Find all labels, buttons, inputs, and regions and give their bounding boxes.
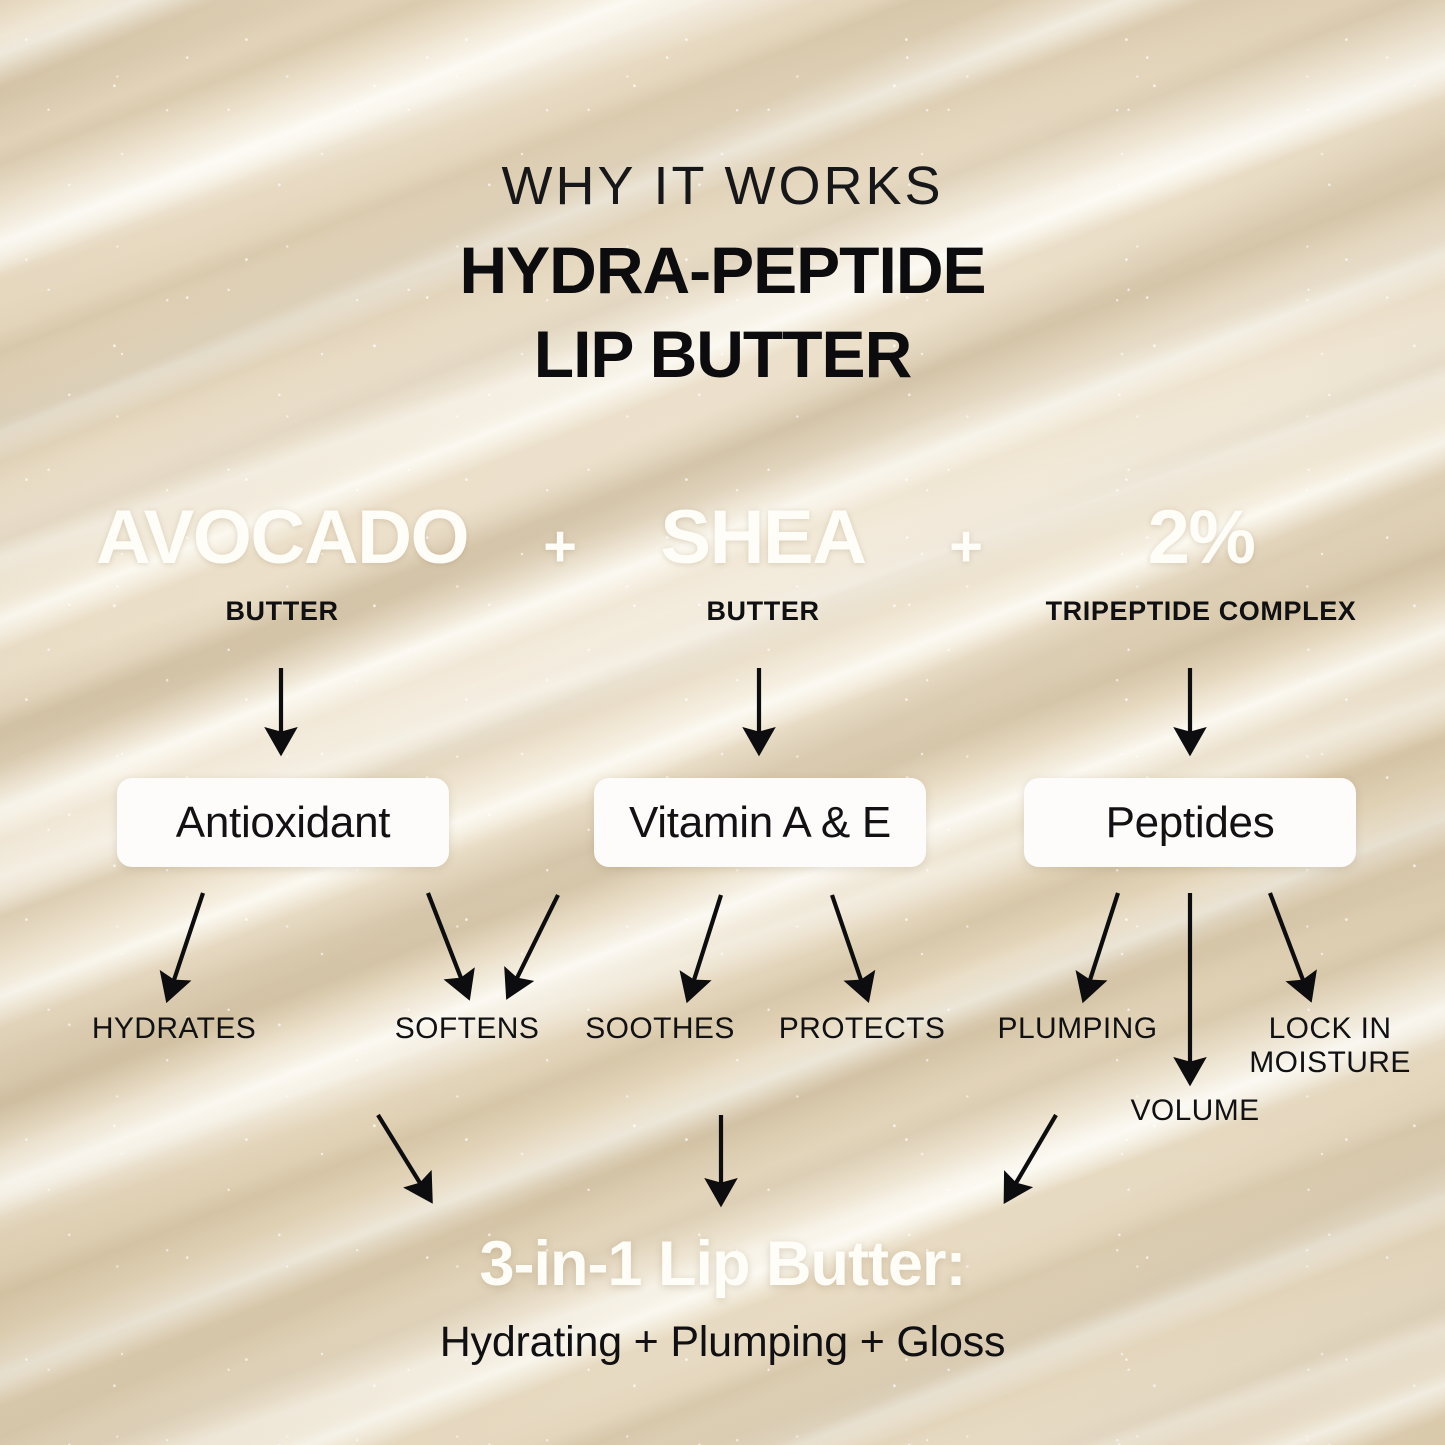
benefit-label-plumping: PLUMPING xyxy=(975,1012,1180,1046)
benefit-label-hydrates: HYDRATES xyxy=(62,1012,286,1046)
plus-icon-2: + xyxy=(930,518,1002,576)
benefit-label-protects: PROTECTS xyxy=(762,1012,962,1046)
property-box-peptides[interactable]: Peptides xyxy=(1024,778,1356,867)
benefit-label-soothes: SOOTHES xyxy=(565,1012,755,1046)
summary-subtitle: Hydrating + Plumping + Gloss xyxy=(0,1318,1445,1367)
ingredient-name-avocado: AVOCADO xyxy=(56,500,508,576)
arrow-antioxidant-to-hydrates xyxy=(174,893,203,980)
arrow-benefits-to-summary-left xyxy=(378,1115,420,1183)
property-label-peptides: Peptides xyxy=(1106,798,1275,848)
arrow-antioxidant-to-softens xyxy=(428,893,461,978)
page-title-line-2: LIP BUTTER xyxy=(0,316,1445,392)
ingredient-sub-shea: BUTTER xyxy=(618,598,908,625)
property-label-antioxidant: Antioxidant xyxy=(176,798,390,848)
page-title-line-1: HYDRA-PEPTIDE xyxy=(0,232,1445,308)
plus-icon-1: + xyxy=(524,518,596,576)
ingredient-sub-avocado: BUTTER xyxy=(56,598,508,625)
property-box-vitamin-a-e[interactable]: Vitamin A & E xyxy=(594,778,926,867)
arrow-vitamin-to-protects xyxy=(832,895,861,980)
arrow-vitamin-to-soothes xyxy=(694,895,721,980)
property-box-antioxidant[interactable]: Antioxidant xyxy=(117,778,449,867)
arrow-peptides-to-lock-in-moisture xyxy=(1270,893,1303,980)
summary-title: 3-in-1 Lip Butter: xyxy=(0,1228,1445,1300)
ingredient-name-tripeptide: 2% xyxy=(1012,500,1390,576)
eyebrow-heading: WHY IT WORKS xyxy=(0,155,1445,217)
infographic-canvas: WHY IT WORKS HYDRA-PEPTIDE LIP BUTTER AV… xyxy=(0,0,1445,1445)
arrow-peptides-to-plumping xyxy=(1090,893,1118,980)
benefit-label-lock-in-moisture: LOCK IN MOISTURE xyxy=(1225,1012,1435,1079)
benefit-label-softens: SOFTENS xyxy=(372,1012,562,1046)
arrow-benefits-to-summary-right xyxy=(1016,1115,1056,1183)
arrow-vitamin-to-softens xyxy=(517,895,558,978)
ingredient-name-shea: SHEA xyxy=(618,500,908,576)
benefit-label-volume: VOLUME xyxy=(1100,1094,1290,1128)
property-label-vitamin-a-e: Vitamin A & E xyxy=(629,798,891,848)
ingredient-sub-tripeptide: TRIPEPTIDE COMPLEX xyxy=(1004,598,1398,625)
